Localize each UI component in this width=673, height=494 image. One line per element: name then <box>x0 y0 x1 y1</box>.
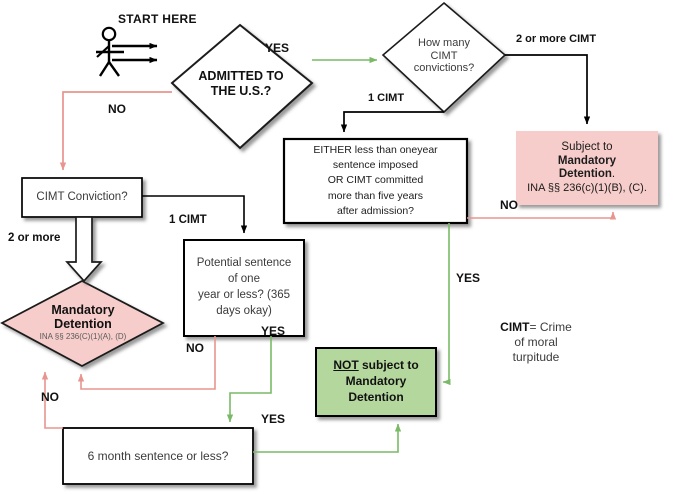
edge-label-no-potential: NO <box>186 341 204 355</box>
edge-either-yes <box>443 223 449 382</box>
flowchart-canvas: ADMITTED TO THE U.S.? How many CIMT conv… <box>0 0 673 494</box>
edge-label-no-six-month: NO <box>41 390 59 404</box>
legend-line3: turpitude <box>476 350 596 365</box>
node-subject-to-mandatory-detention[interactable] <box>516 131 658 205</box>
node-six-month-sentence[interactable] <box>63 428 253 484</box>
edge-label-yes-six-month: YES <box>261 412 285 426</box>
legend-cimt: CIMT= Crime of moral turpitude <box>476 320 596 365</box>
edge-label-no-either: NO <box>500 198 518 212</box>
legend-equals: = Crime <box>529 320 571 334</box>
start-here-label: START HERE <box>118 12 197 26</box>
node-potential-sentence[interactable] <box>184 240 304 336</box>
edge-two-or-more-cimt <box>505 55 587 124</box>
edge-label-two-or-more-cimt: 2 or more CIMT <box>516 33 596 45</box>
edge-label-one-cimt-left: 1 CIMT <box>169 214 207 226</box>
flowchart-graphics <box>0 0 673 494</box>
edge-one-cimt-top <box>344 112 444 132</box>
edge-label-yes-potential: YES <box>261 324 285 338</box>
edge-two-or-more-block-arrow <box>67 217 101 281</box>
legend-line2: of moral <box>476 335 596 350</box>
legend-abbr: CIMT <box>500 320 529 334</box>
edge-label-one-cimt-top: 1 CIMT <box>368 92 404 104</box>
edge-potential-yes <box>230 336 271 422</box>
node-mandatory-detention[interactable] <box>2 281 163 366</box>
edge-label-no-admitted: NO <box>108 102 126 116</box>
edge-label-yes-admitted: YES <box>265 41 289 55</box>
stick-figure-icon <box>96 28 124 76</box>
node-either-condition[interactable] <box>284 139 467 223</box>
edge-either-no <box>467 212 613 218</box>
node-not-subject-mandatory-detention[interactable] <box>316 348 436 416</box>
node-cimt-conviction[interactable] <box>22 178 142 217</box>
edge-six-month-yes <box>253 424 398 452</box>
edge-label-yes-either: YES <box>456 271 480 285</box>
node-admitted-to-us[interactable] <box>172 25 312 148</box>
edge-label-two-or-more: 2 or more <box>8 232 60 244</box>
